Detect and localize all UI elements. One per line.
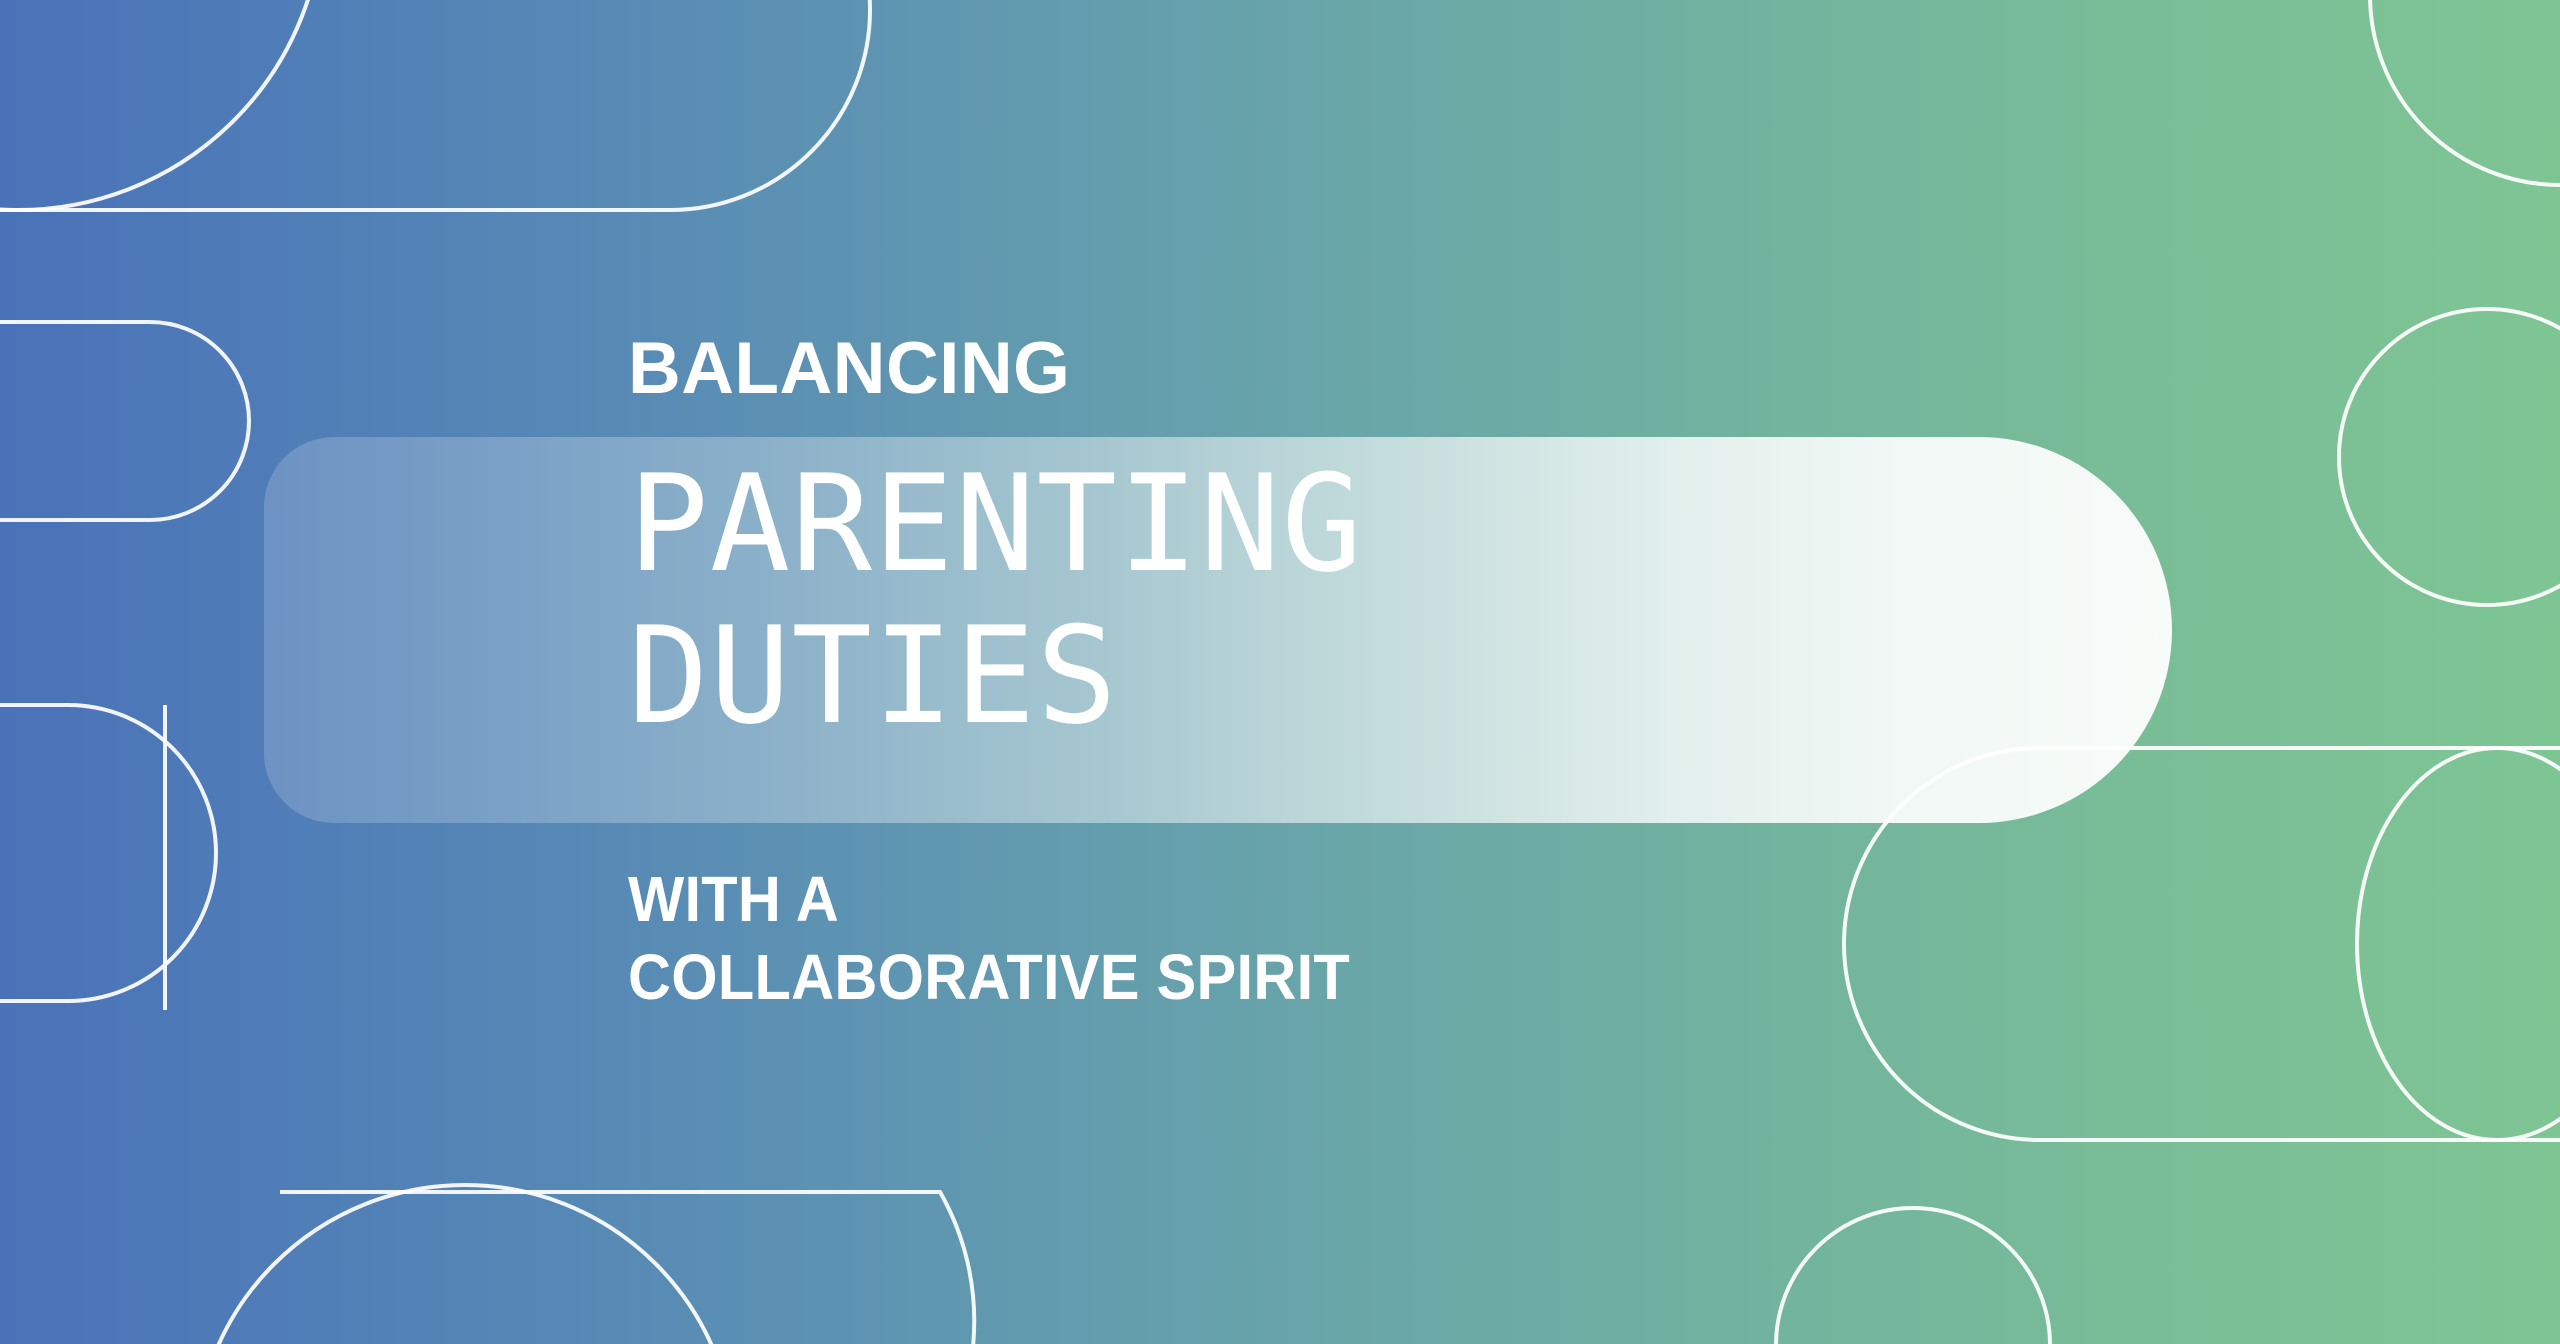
subtitle-line-1: WITH A xyxy=(628,860,1350,938)
subtitle-line-2: COLLABORATIVE SPIRIT xyxy=(628,938,1350,1016)
headline-line-1: PARENTING xyxy=(628,448,1363,600)
page-title: PARENTING DUTIES xyxy=(628,448,1363,752)
headline-line-2: DUTIES xyxy=(628,600,1363,752)
subtitle-text: WITH A COLLABORATIVE SPIRIT xyxy=(628,860,1350,1016)
eyebrow-text: BALANCING xyxy=(628,330,1070,408)
poster-canvas: BALANCING PARENTING DUTIES WITH A COLLAB… xyxy=(0,0,2560,1344)
title-text-block: BALANCING PARENTING DUTIES WITH A COLLAB… xyxy=(628,0,2128,1344)
